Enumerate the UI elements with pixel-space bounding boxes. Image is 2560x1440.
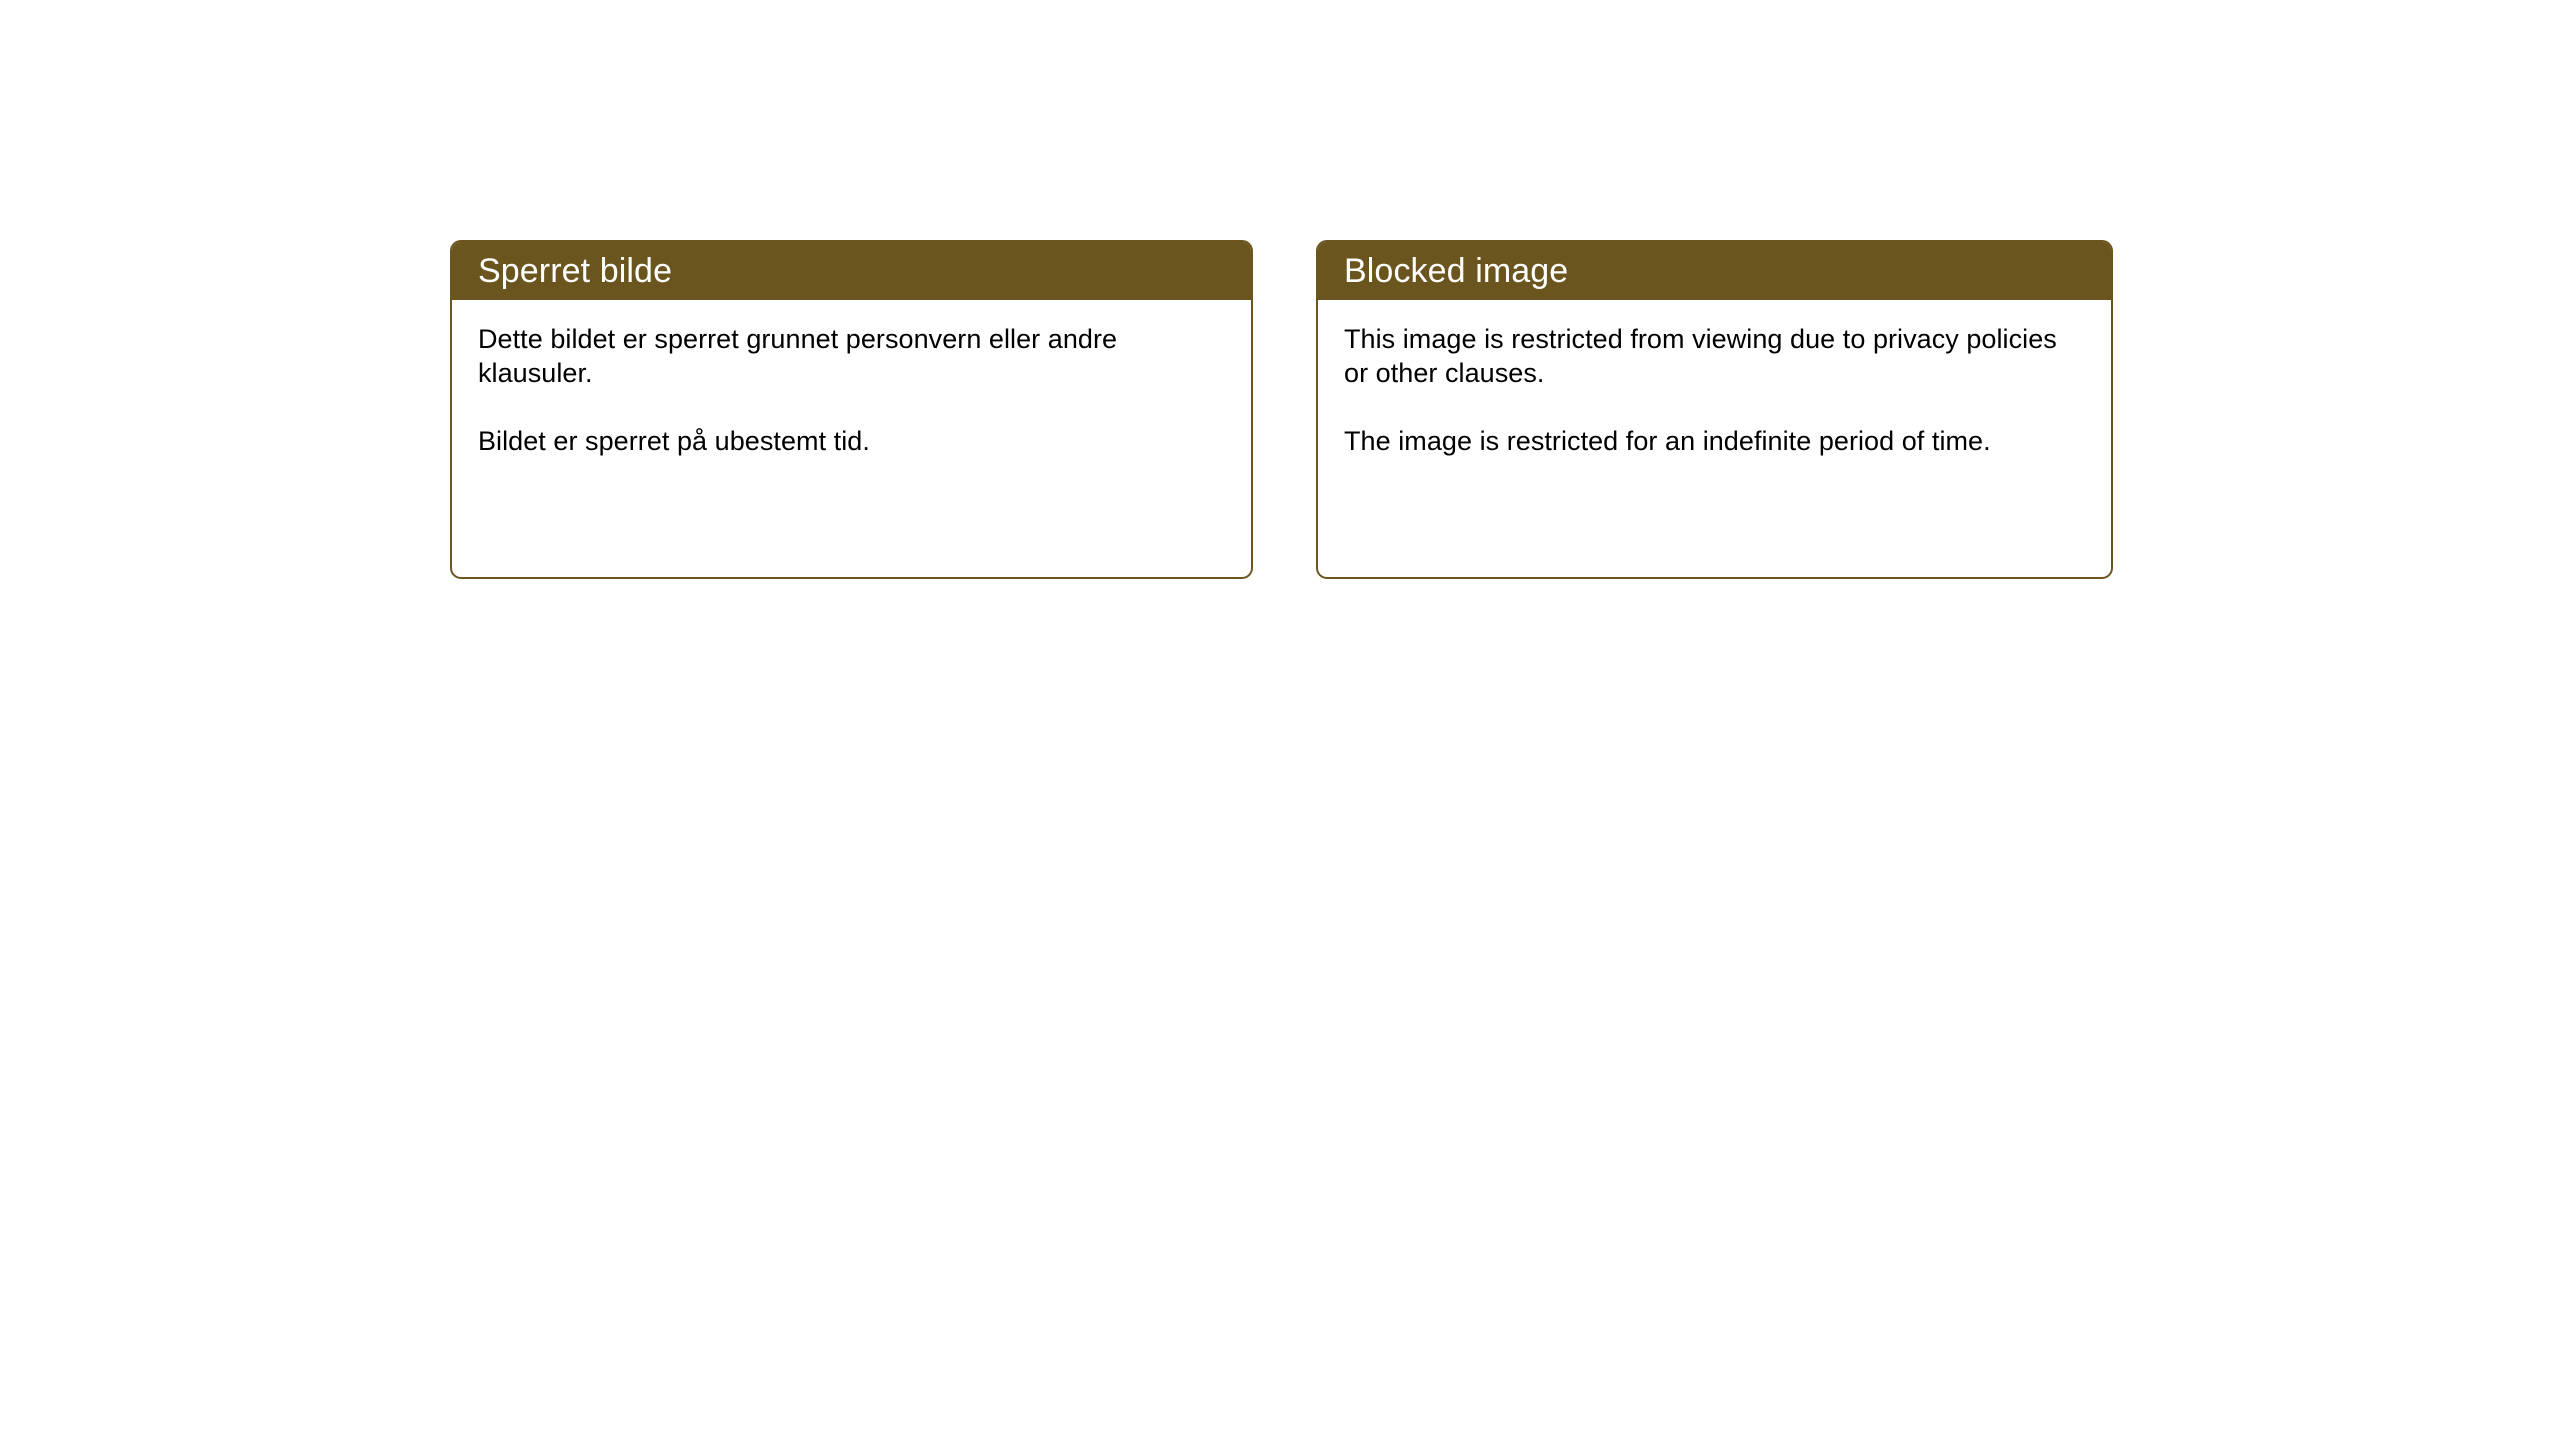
card-header-english: Blocked image — [1318, 242, 2111, 300]
card-paragraph-primary-english: This image is restricted from viewing du… — [1344, 322, 2087, 390]
card-paragraph-primary-norwegian: Dette bildet er sperret grunnet personve… — [478, 322, 1227, 390]
page-canvas: Sperret bilde Dette bildet er sperret gr… — [0, 0, 2560, 1440]
card-body-english: This image is restricted from viewing du… — [1318, 300, 2111, 458]
card-header-norwegian: Sperret bilde — [452, 242, 1251, 300]
card-title-english: Blocked image — [1344, 252, 1568, 290]
card-paragraph-secondary-english: The image is restricted for an indefinit… — [1344, 424, 2087, 458]
paragraph-spacer — [1344, 390, 2087, 424]
card-title-norwegian: Sperret bilde — [478, 252, 672, 290]
paragraph-spacer — [478, 390, 1227, 424]
card-paragraph-secondary-norwegian: Bildet er sperret på ubestemt tid. — [478, 424, 1227, 458]
card-body-norwegian: Dette bildet er sperret grunnet personve… — [452, 300, 1251, 458]
blocked-image-notice-card-norwegian: Sperret bilde Dette bildet er sperret gr… — [450, 240, 1253, 579]
blocked-image-notice-card-english: Blocked image This image is restricted f… — [1316, 240, 2113, 579]
